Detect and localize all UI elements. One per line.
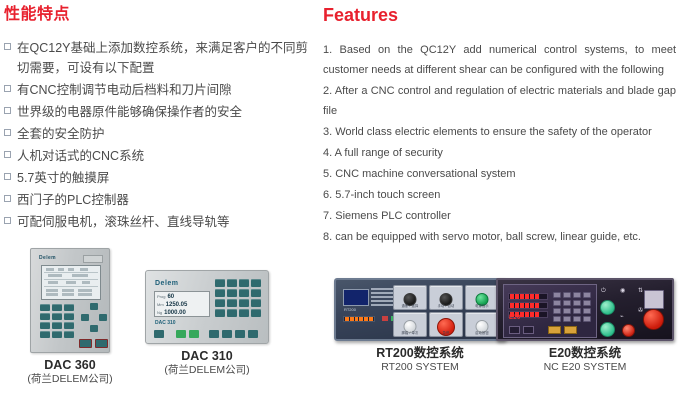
device-caption-subtitle: (荷兰DELEM公司) [143, 364, 271, 377]
e20-panel-image: E20 [496, 278, 674, 341]
indicator-lamp-icon [600, 322, 615, 337]
keypad-button[interactable] [553, 316, 561, 322]
control-label: 急停 [430, 330, 462, 335]
list-item: 8. can be equipped with servo motor, bal… [323, 227, 680, 247]
dpad-right-button[interactable] [99, 314, 107, 321]
keypad-button[interactable] [553, 300, 561, 306]
rt200-control-grid[interactable]: 通断 / 选择 手动 / 自动 电源指示 脚踏 / 单次 急停 [393, 285, 499, 337]
device-caption-subtitle: RT200 SYSTEM [330, 361, 510, 374]
delem-logo: Delem [155, 280, 179, 287]
checkbox-icon [4, 129, 11, 136]
keypad-button[interactable] [239, 309, 249, 317]
list-item: 有CNC控制调节电动后档料和刀片间隙 [4, 80, 318, 100]
keypad-button[interactable] [251, 309, 261, 317]
rt200-lcd-screen [343, 289, 369, 306]
keypad-button[interactable] [40, 322, 50, 329]
keypad-button[interactable] [239, 279, 249, 287]
control-label: 手动 / 自动 [430, 303, 462, 308]
list-item: 人机对话式的CNC系统 [4, 146, 318, 166]
device-caption-subtitle: NC E20 SYSTEM [492, 361, 678, 374]
list-item: 6. 5.7-inch touch screen [323, 185, 680, 205]
keypad-button[interactable] [563, 316, 571, 322]
e20-front-face: E20 [503, 284, 597, 338]
keypad-button[interactable] [227, 279, 237, 287]
delem-logo: Delem [39, 255, 56, 261]
e20-keypad[interactable] [553, 292, 591, 322]
dac360-badge [83, 255, 103, 263]
dac360-dpad[interactable] [81, 303, 107, 333]
indicator-red [382, 316, 388, 321]
rt200-panel-image: RT200 通断 / 选择 手动 / 自动 [334, 278, 506, 341]
e20-amber-buttons[interactable] [548, 326, 577, 334]
list-item-label: 世界级的电器原件能够确保操作者的安全 [17, 105, 242, 119]
keypad-button[interactable] [64, 322, 74, 329]
status-led-green [176, 330, 186, 338]
checkbox-icon [4, 217, 11, 224]
list-item: 全套的安全防护 [4, 124, 318, 144]
keypad-button[interactable] [573, 292, 581, 298]
features-columns: 性能特点 在QC12Y基础上添加数控系统，来满足客户的不同剪切需要，可设有以下配… [0, 0, 680, 248]
keypad-button[interactable] [227, 299, 237, 307]
checkbox-icon [4, 151, 11, 158]
function-button[interactable] [235, 330, 245, 338]
lcd-row1-label: Prog [157, 293, 165, 300]
e20-secondary-display [644, 290, 664, 309]
checkbox-icon [4, 173, 11, 180]
dpad-down-button[interactable] [90, 325, 98, 332]
keypad-button[interactable] [573, 300, 581, 306]
dpad-left-button[interactable] [81, 314, 89, 321]
keypad-button[interactable] [227, 289, 237, 297]
rt200-foot-switch[interactable]: 脚踏 / 单次 [393, 312, 427, 337]
list-item-label: 5.7英寸的触摸屏 [17, 171, 109, 185]
amber-button[interactable] [564, 326, 577, 334]
chinese-heading: 性能特点 [4, 6, 318, 24]
english-heading: Features [323, 6, 680, 24]
keypad-button[interactable] [52, 331, 62, 338]
dac360-function-buttons[interactable] [79, 339, 108, 348]
keypad-button[interactable] [215, 289, 225, 297]
dac310-keypad[interactable] [215, 279, 261, 317]
keypad-button[interactable] [563, 308, 571, 314]
list-item-label: 全套的安全防护 [17, 127, 105, 141]
device-gallery: Delem [0, 248, 680, 402]
list-item: 7. Siemens PLC controller [323, 206, 680, 226]
keypad-button[interactable] [583, 316, 591, 322]
dac310-panel-image: Delem Prog 60 Mm 1250.05 Ng 1000.00 DAC … [145, 270, 269, 344]
keypad-button[interactable] [64, 304, 74, 311]
dac310-model-label: DAC 310 [155, 320, 176, 326]
rt200-mode-switch[interactable]: 手动 / 自动 [429, 285, 463, 310]
device-caption-title: DAC 310 [143, 349, 271, 364]
keypad-button[interactable] [52, 304, 62, 311]
lcd-row2-label: Mm [157, 301, 164, 308]
device-e20: E20 [492, 278, 678, 374]
list-item: 5. CNC machine conversational system [323, 164, 680, 184]
indicator-box [523, 326, 534, 334]
keypad-button[interactable] [251, 289, 261, 297]
keypad-button[interactable] [215, 279, 225, 287]
keypad-button[interactable] [227, 309, 237, 317]
dac360-keypad[interactable] [40, 304, 74, 338]
list-item: 西门子的PLC控制器 [4, 190, 318, 210]
lcd-row2-value: 1250.05 [166, 302, 188, 309]
dac360-lcd-screen [41, 265, 101, 300]
english-feature-list: 1. Based on the QC12Y add numerical cont… [323, 40, 680, 247]
rt200-model-label: RT200 [344, 307, 356, 312]
emergency-stop-icon[interactable] [643, 309, 664, 330]
list-item: 在QC12Y基础上添加数控系统，来满足客户的不同剪切需要，可设有以下配置 [4, 38, 318, 78]
keypad-button[interactable] [40, 313, 50, 320]
list-item: 3. World class electric elements to ensu… [323, 122, 680, 142]
dac310-lower-buttons[interactable] [154, 330, 258, 338]
function-button[interactable] [209, 330, 219, 338]
keypad-button[interactable] [64, 313, 74, 320]
checkbox-icon [4, 43, 11, 50]
control-label: 通断 / 选择 [394, 303, 426, 308]
list-item: 1. Based on the QC12Y add numerical cont… [323, 40, 680, 80]
list-item-label: 可配伺服电机，滚珠丝杆、直线导轨等 [17, 215, 230, 229]
list-item: 可配伺服电机，滚珠丝杆、直线导轨等 [4, 212, 318, 232]
keypad-button[interactable] [573, 308, 581, 314]
amber-button[interactable] [548, 326, 561, 334]
function-button[interactable] [95, 339, 108, 348]
gauge-icon: ◉ [620, 288, 625, 295]
rt200-selector-switch[interactable]: 通断 / 选择 [393, 285, 427, 310]
keypad-button[interactable] [64, 331, 74, 338]
device-caption-subtitle: (荷兰DELEM公司) [0, 373, 140, 386]
keypad-button[interactable] [251, 279, 261, 287]
keypad-button[interactable] [583, 292, 591, 298]
indicator-box [509, 326, 520, 334]
function-button[interactable] [222, 330, 232, 338]
keypad-button[interactable] [52, 322, 62, 329]
keypad-button[interactable] [40, 331, 50, 338]
chinese-feature-list: 在QC12Y基础上添加数控系统，来满足客户的不同剪切需要，可设有以下配置 有CN… [4, 38, 318, 232]
push-button-icon [622, 324, 635, 337]
device-caption-title: E20数控系统 [492, 346, 678, 361]
e20-model-label: E20 [509, 315, 521, 321]
indicator-lamp-icon [600, 300, 615, 315]
e20-green-lamp-upper[interactable] [600, 300, 615, 315]
list-item: 2. After a CNC control and regulation of… [323, 81, 680, 121]
function-button[interactable] [154, 330, 164, 338]
keypad-button[interactable] [583, 308, 591, 314]
e20-green-lamp-lower[interactable] [600, 322, 615, 337]
device-dac360: Delem [0, 248, 140, 386]
keypad-button[interactable] [251, 299, 261, 307]
wrench-icon: ✇ [638, 308, 643, 315]
checkbox-icon [4, 107, 11, 114]
checkbox-icon [4, 85, 11, 92]
status-led-green [189, 330, 199, 338]
lever-icon: ⌁ [620, 314, 624, 321]
device-rt200: RT200 通断 / 选择 手动 / 自动 [330, 278, 510, 374]
lcd-row3-label: Ng [157, 309, 162, 316]
rt200-led-display [343, 316, 375, 322]
switch-icon: ⇅ [638, 288, 643, 295]
list-item-label: 西门子的PLC控制器 [17, 193, 129, 207]
list-item: 4. A full range of security [323, 143, 680, 163]
dac310-lcd-screen: Prog 60 Mm 1250.05 Ng 1000.00 [154, 291, 210, 317]
keypad-button[interactable] [563, 292, 571, 298]
dpad-up-button[interactable] [90, 303, 98, 310]
power-symbol-icon: ⏻ [601, 288, 606, 295]
control-label: 脚踏 / 单次 [394, 330, 426, 335]
device-dac310: Delem Prog 60 Mm 1250.05 Ng 1000.00 DAC … [143, 270, 271, 377]
function-button[interactable] [79, 339, 92, 348]
keypad-button[interactable] [215, 299, 225, 307]
rt200-emergency-stop[interactable]: 急停 [429, 312, 463, 337]
checkbox-icon [4, 195, 11, 202]
keypad-button[interactable] [239, 299, 249, 307]
list-item-label: 在QC12Y基础上添加数控系统，来满足客户的不同剪切需要，可设有以下配置 [17, 41, 308, 75]
e20-red-button[interactable] [622, 324, 635, 337]
e20-control-area: ⏻ ◉ ⇅ ⌁ ✇ [598, 284, 668, 335]
function-button[interactable] [248, 330, 258, 338]
keypad-button[interactable] [239, 289, 249, 297]
english-column: Features 1. Based on the QC12Y add numer… [318, 6, 680, 248]
list-item: 5.7英寸的触摸屏 [4, 168, 318, 188]
keypad-button[interactable] [215, 309, 225, 317]
keypad-button[interactable] [553, 308, 561, 314]
list-item-label: 人机对话式的CNC系统 [17, 149, 144, 163]
keypad-button[interactable] [583, 300, 591, 306]
keypad-button[interactable] [40, 304, 50, 311]
keypad-button[interactable] [52, 313, 62, 320]
device-caption-title: DAC 360 [0, 358, 140, 373]
device-caption-title: RT200数控系统 [330, 346, 510, 361]
lcd-row3-value: 1000.00 [164, 310, 186, 317]
keypad-button[interactable] [573, 316, 581, 322]
chinese-column: 性能特点 在QC12Y基础上添加数控系统，来满足客户的不同剪切需要，可设有以下配… [0, 6, 318, 248]
keypad-button[interactable] [553, 292, 561, 298]
e20-small-indicators [509, 326, 534, 334]
list-item-label: 有CNC控制调节电动后档料和刀片间隙 [17, 83, 232, 97]
keypad-button[interactable] [563, 300, 571, 306]
list-item: 世界级的电器原件能够确保操作者的安全 [4, 102, 318, 122]
dac360-panel-image: Delem [30, 248, 110, 353]
lcd-row1-value: 60 [167, 294, 174, 301]
